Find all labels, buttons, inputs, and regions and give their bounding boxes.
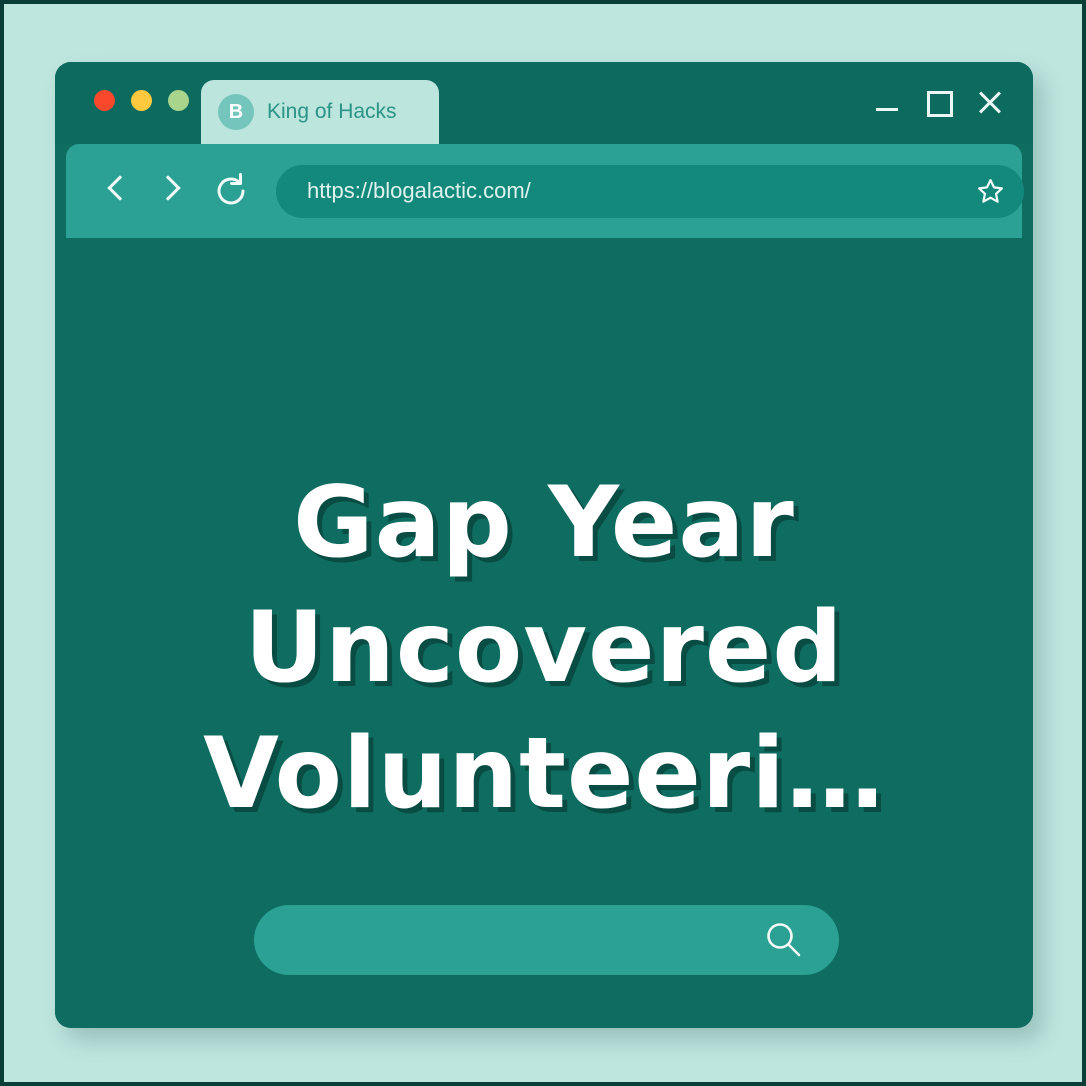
browser-tab-king-of-hacks[interactable]: B King of Hacks: [201, 80, 439, 144]
headline-line-3: Volunteeri…: [91, 712, 997, 837]
headline-line-1: Gap Year: [91, 461, 997, 586]
traffic-light-group: [94, 90, 189, 111]
headline-line-2: Uncovered: [91, 586, 997, 711]
page-title: Gap Year Uncovered Volunteeri…: [55, 461, 1033, 837]
maximize-icon[interactable]: [924, 88, 952, 116]
minimize-window-dot[interactable]: [131, 90, 152, 111]
page-canvas: B King of Hacks: [4, 4, 1082, 1082]
search-icon[interactable]: [763, 919, 805, 961]
window-controls: [873, 88, 1003, 116]
search-input[interactable]: [254, 905, 766, 975]
url-bar[interactable]: https://blogalactic.com/: [276, 165, 1024, 218]
minimize-icon[interactable]: [873, 88, 901, 116]
star-icon[interactable]: [975, 176, 1006, 207]
url-text: https://blogalactic.com/: [307, 178, 531, 204]
page-content: Gap Year Uncovered Volunteeri…: [55, 238, 1033, 1028]
close-window-dot[interactable]: [94, 90, 115, 111]
browser-toolbar: https://blogalactic.com/: [66, 144, 1022, 238]
maximize-window-dot[interactable]: [168, 90, 189, 111]
tab-title: King of Hacks: [267, 100, 397, 124]
site-search-bar[interactable]: [254, 905, 839, 975]
reload-icon[interactable]: [210, 170, 252, 212]
chevron-right-icon[interactable]: [148, 170, 190, 212]
chevron-left-icon[interactable]: [98, 170, 140, 212]
browser-titlebar: B King of Hacks: [55, 62, 1033, 144]
favicon-b-icon: B: [218, 94, 254, 130]
close-icon[interactable]: [975, 88, 1003, 116]
browser-window: B King of Hacks: [55, 62, 1033, 1028]
